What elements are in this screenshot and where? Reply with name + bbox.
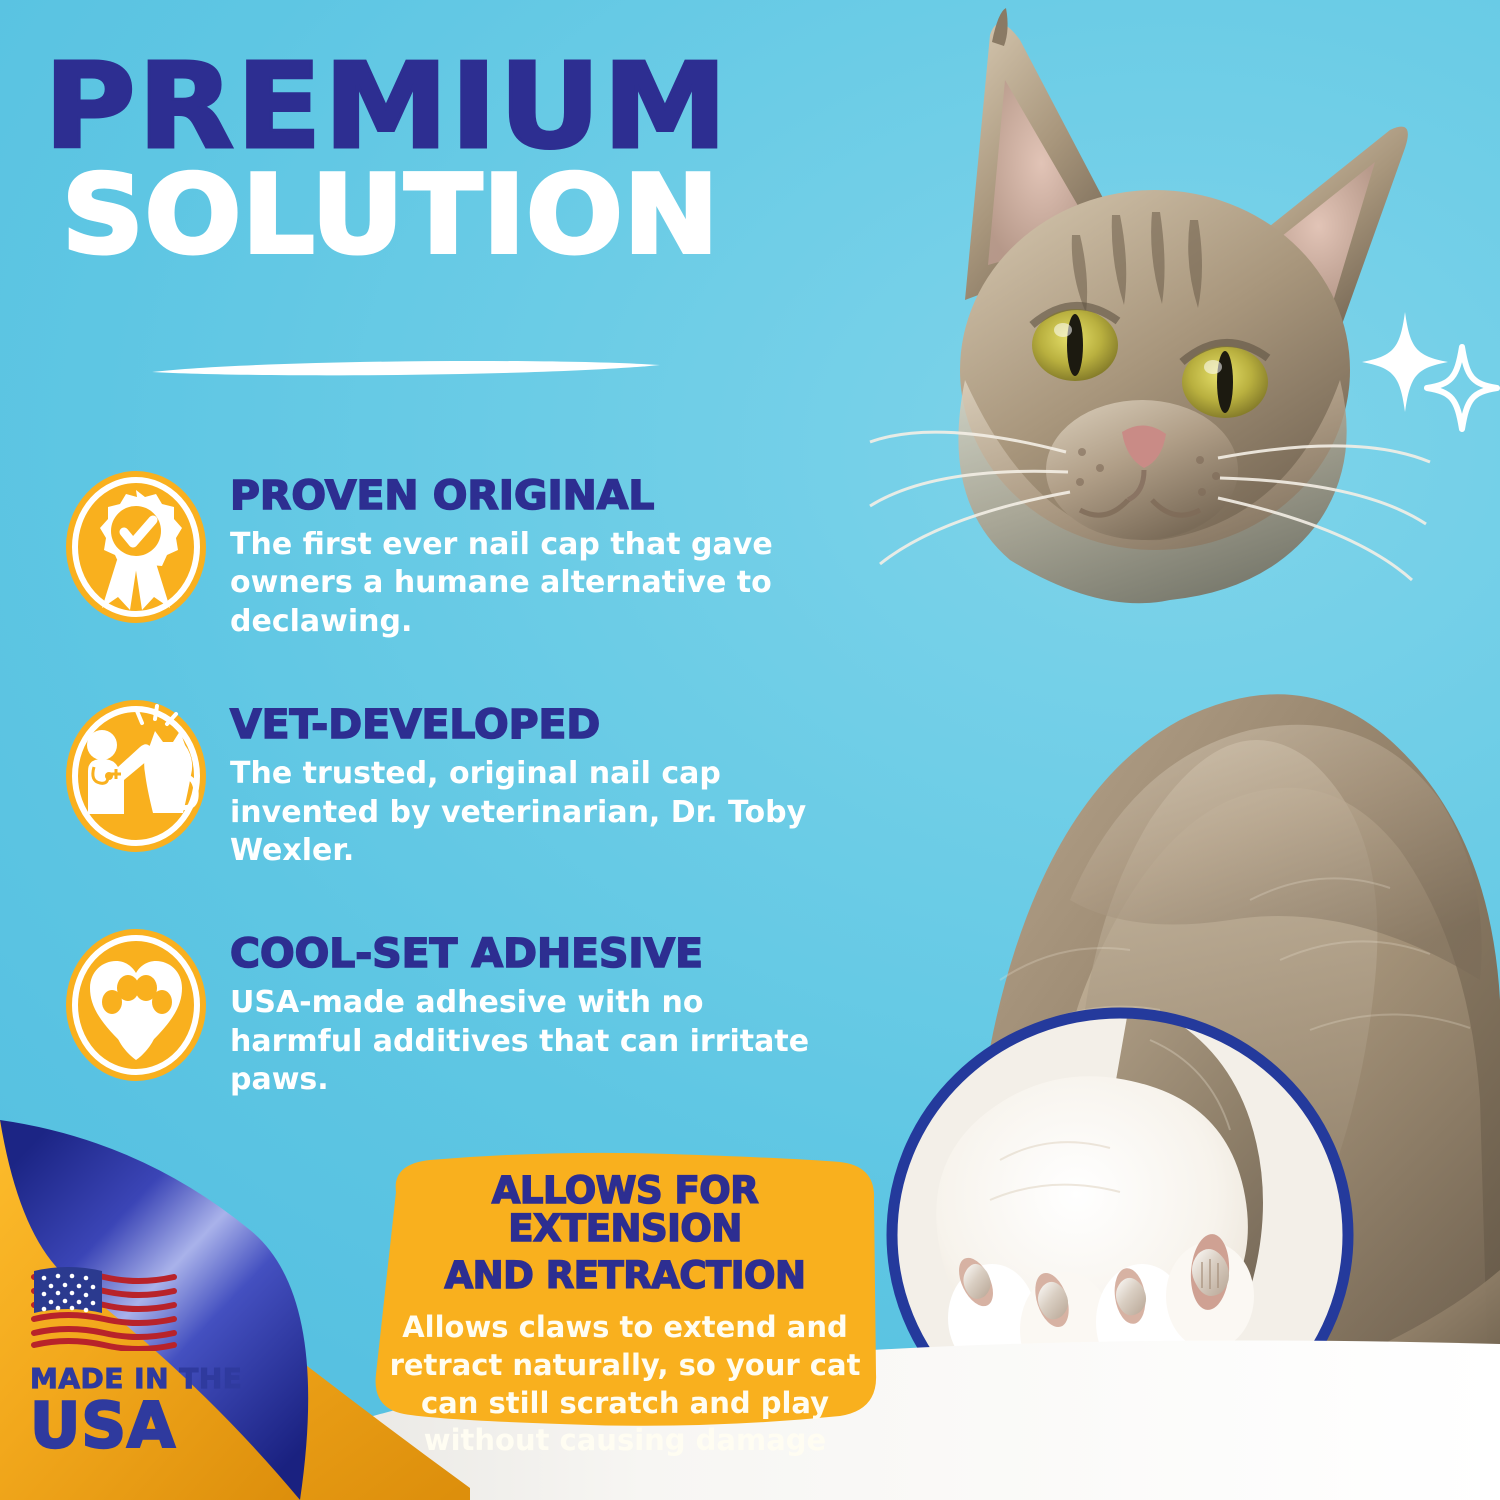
product-infographic: PREMIUM SOLUTION P (0, 0, 1500, 1500)
feature-item: VET-DEVELOPED The trusted, original nail… (62, 697, 862, 870)
callout-body: Allows claws to extend and retract natur… (388, 1309, 862, 1460)
headline-block: PREMIUM SOLUTION (44, 52, 864, 267)
underline-swoosh (150, 356, 662, 378)
vet-high-five-cat-icon (62, 697, 210, 855)
feature-title: COOL-SET ADHESIVE (230, 934, 842, 974)
extension-retraction-callout: ALLOWS FOR EXTENSION AND RETRACTION Allo… (370, 1148, 880, 1430)
headline-solution: SOLUTION (62, 165, 904, 268)
headline-premium: PREMIUM (44, 52, 913, 161)
made-in-usa-badge: MADE IN THE USA (30, 1267, 260, 1458)
callout-title-line2: AND RETRACTION (388, 1257, 862, 1295)
usa-flag-icon (30, 1267, 178, 1351)
feature-item: PROVEN ORIGINAL The first ever nail cap … (62, 468, 862, 641)
sparkle-star-outline-icon (1424, 344, 1500, 432)
callout-title-line1: ALLOWS FOR EXTENSION (388, 1172, 862, 1248)
made-in-usa-line2: USA (30, 1393, 260, 1458)
feature-list: PROVEN ORIGINAL The first ever nail cap … (62, 468, 862, 1156)
heart-paw-icon (62, 926, 210, 1084)
award-ribbon-check-icon (62, 468, 210, 626)
feature-title: PROVEN ORIGINAL (230, 476, 842, 516)
feature-body: The trusted, original nail cap invented … (230, 755, 830, 870)
feature-title: VET-DEVELOPED (230, 705, 842, 745)
feature-item: COOL-SET ADHESIVE USA-made adhesive with… (62, 926, 862, 1099)
feature-body: The first ever nail cap that gave owners… (230, 526, 830, 641)
